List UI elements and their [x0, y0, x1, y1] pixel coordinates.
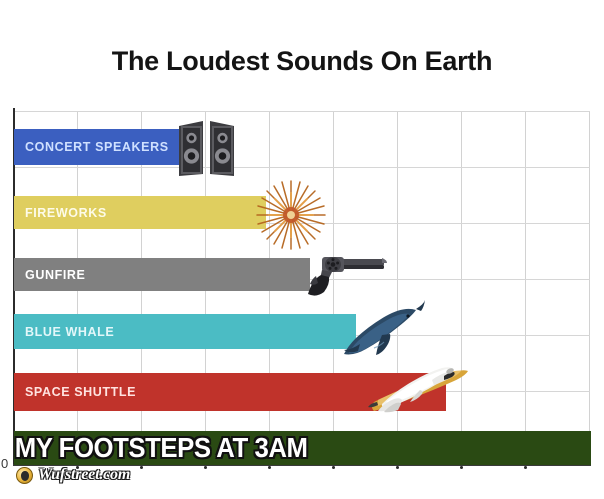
bar-label-space-shuttle: SPACE SHUTTLE — [14, 385, 136, 399]
bar-label-fireworks: FIREWORKS — [14, 206, 107, 220]
bar-space-shuttle: SPACE SHUTTLE — [14, 373, 446, 411]
bar-label-gunfire: GUNFIRE — [14, 268, 85, 282]
paw-badge-icon — [16, 467, 33, 484]
x-axis-tick — [332, 466, 335, 469]
bar-fireworks: FIREWORKS — [14, 196, 266, 229]
bar-gunfire: GUNFIRE — [14, 258, 310, 291]
gridline-vertical — [589, 111, 590, 463]
x-axis-tick — [396, 466, 399, 469]
bar-label-concert-speakers: CONCERT SPEAKERS — [14, 140, 169, 154]
gridline-horizontal — [13, 111, 590, 112]
chart-title: The Loudest Sounds On Earth — [0, 46, 604, 77]
x-axis-tick — [460, 466, 463, 469]
bar-concert-speakers: CONCERT SPEAKERS — [14, 129, 186, 165]
x-axis-tick — [204, 466, 207, 469]
gridline-vertical — [525, 111, 526, 463]
x-axis-tick — [524, 466, 527, 469]
gridline-horizontal — [13, 167, 590, 168]
meme-chart-image: The Loudest Sounds On Earth 0 CONCERT SP… — [0, 0, 604, 499]
x-axis-tick — [268, 466, 271, 469]
bar-blue-whale: BLUE WHALE — [14, 314, 356, 349]
bar-label-blue-whale: BLUE WHALE — [14, 325, 114, 339]
watermark-text: Wufstreet.com — [38, 466, 130, 484]
watermark: Wufstreet.com — [16, 466, 130, 484]
bar-my-footsteps-at-3am — [14, 431, 591, 465]
gridline-vertical — [461, 111, 462, 463]
x-axis-tick — [140, 466, 143, 469]
y-axis-zero-label: 0 — [1, 456, 8, 471]
